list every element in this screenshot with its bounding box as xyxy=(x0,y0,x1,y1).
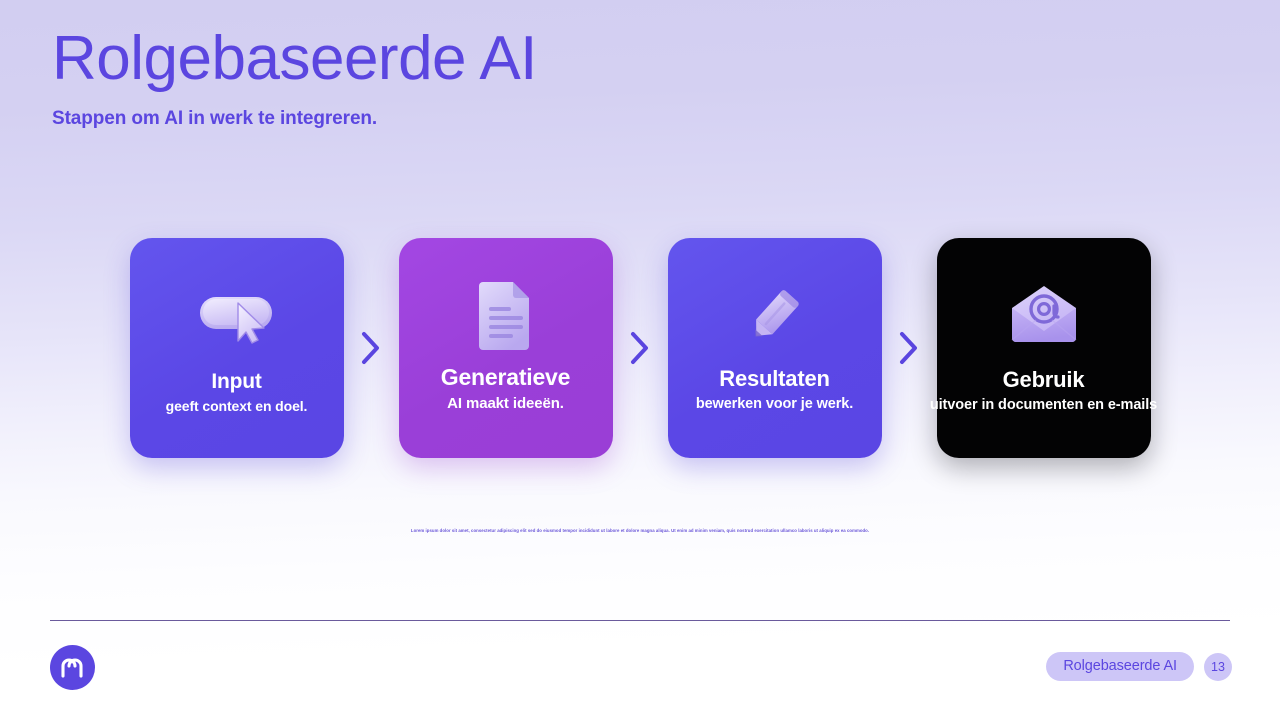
step-subtitle: uitvoer in documenten en e-mails xyxy=(879,397,1209,413)
chevron-right-icon xyxy=(344,330,399,366)
page-number-badge: 13 xyxy=(1204,653,1232,681)
chevron-right-icon xyxy=(613,330,668,366)
page-subtitle: Stappen om AI in werk te integreren. xyxy=(52,108,1052,130)
footer-right: Rolgebaseerde AI 13 xyxy=(1046,652,1232,681)
cursor-click-icon xyxy=(130,280,344,350)
footnote-text: Lorem ipsum dolor sit amet, consectetur … xyxy=(190,528,1090,534)
step-card-generative[interactable]: Generatieve AI maakt ideeën. xyxy=(399,238,613,458)
pencil-icon xyxy=(668,280,882,350)
email-envelope-icon xyxy=(937,280,1151,350)
step-card-text-block: Gebruik uitvoer in documenten en e-mails xyxy=(879,367,1209,413)
step-card-input[interactable]: Input geeft context en doel. xyxy=(130,238,344,458)
steps-row: Input geeft context en doel. xyxy=(0,238,1280,458)
brand-logo xyxy=(50,645,95,690)
step-title: Gebruik xyxy=(879,367,1209,393)
step-card-usage[interactable]: Gebruik uitvoer in documenten en e-mails xyxy=(937,238,1151,458)
document-icon xyxy=(399,280,613,350)
logo-m-icon xyxy=(60,657,86,679)
page-title: Rolgebaseerde AI xyxy=(52,26,1052,91)
slide-header: Rolgebaseerde AI Stappen om AI in werk t… xyxy=(52,26,1052,130)
chevron-right-icon xyxy=(882,330,937,366)
footer-divider xyxy=(50,620,1230,621)
step-card-results[interactable]: Resultaten bewerken voor je werk. xyxy=(668,238,882,458)
footer-chip-label[interactable]: Rolgebaseerde AI xyxy=(1046,652,1194,681)
